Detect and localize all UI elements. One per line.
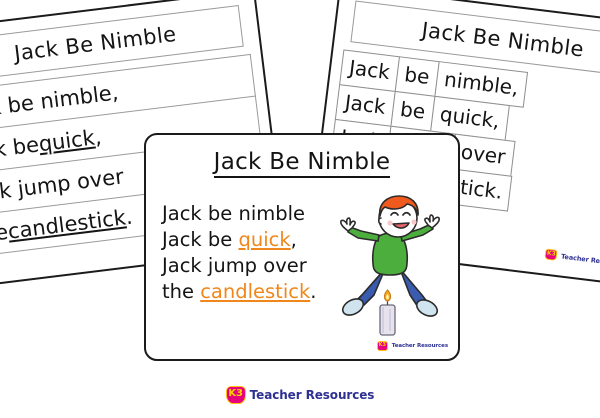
line-plain-after: , [291, 228, 297, 251]
jack-be-nimble-poster[interactable]: Jack Be Nimble Jack be nimble Jack be qu… [144, 133, 460, 361]
front-card-logo: K3 Teacher Resources [377, 341, 448, 351]
line-plain-after: . [310, 280, 316, 303]
k3-logo-icon: K3 [377, 341, 388, 351]
line-plain-before: the [162, 280, 200, 303]
footer-logo-text: Teacher Resources [250, 388, 375, 402]
rhyme-line: Jack be nimble [162, 201, 332, 227]
line-highlight: candlestick [200, 280, 310, 303]
strip-text-underline: quick [37, 125, 96, 156]
page-title: Jack Be Nimble [146, 149, 458, 175]
right-card-title: Jack Be Nimble [420, 18, 585, 62]
line-highlight: quick [239, 228, 291, 251]
left-card-title: Jack Be Nimble [13, 22, 178, 66]
front-card-logo-text: Teacher Resources [392, 343, 448, 349]
strip-text-plain-before: Jack be [0, 132, 40, 165]
strip-text-underline: candlestick [7, 205, 128, 243]
k3-logo-icon: K3 [545, 249, 558, 261]
rhyme-line: Jack jump over [162, 253, 332, 279]
right-card-logo: K3 Teacher Resources [545, 249, 600, 270]
rhyme-line: the candlestick. [162, 279, 332, 305]
line-plain-before: Jack jump over [162, 254, 307, 277]
line-plain-before: Jack be [162, 228, 239, 251]
boy-jumping-over-candle-icon [328, 191, 452, 339]
boy-jumping-over-candle-illustration [328, 191, 452, 339]
resource-preview-stage: Jack Be Nimble Jack be nimble, Jack be q… [0, 0, 600, 418]
front-card-title: Jack Be Nimble [214, 149, 391, 178]
k3-logo-icon: K3 [226, 386, 246, 404]
line-plain-before: Jack be nimble [162, 202, 305, 225]
rhyme-text: Jack be nimble Jack be quick, Jack jump … [162, 201, 332, 305]
footer-logo[interactable]: K3 Teacher Resources [226, 386, 375, 404]
teacher-resources-branding[interactable]: K3 Teacher Resources [0, 386, 600, 404]
right-card-logo-text: Teacher Resources [561, 252, 600, 268]
rhyme-line: Jack be quick, [162, 227, 332, 253]
